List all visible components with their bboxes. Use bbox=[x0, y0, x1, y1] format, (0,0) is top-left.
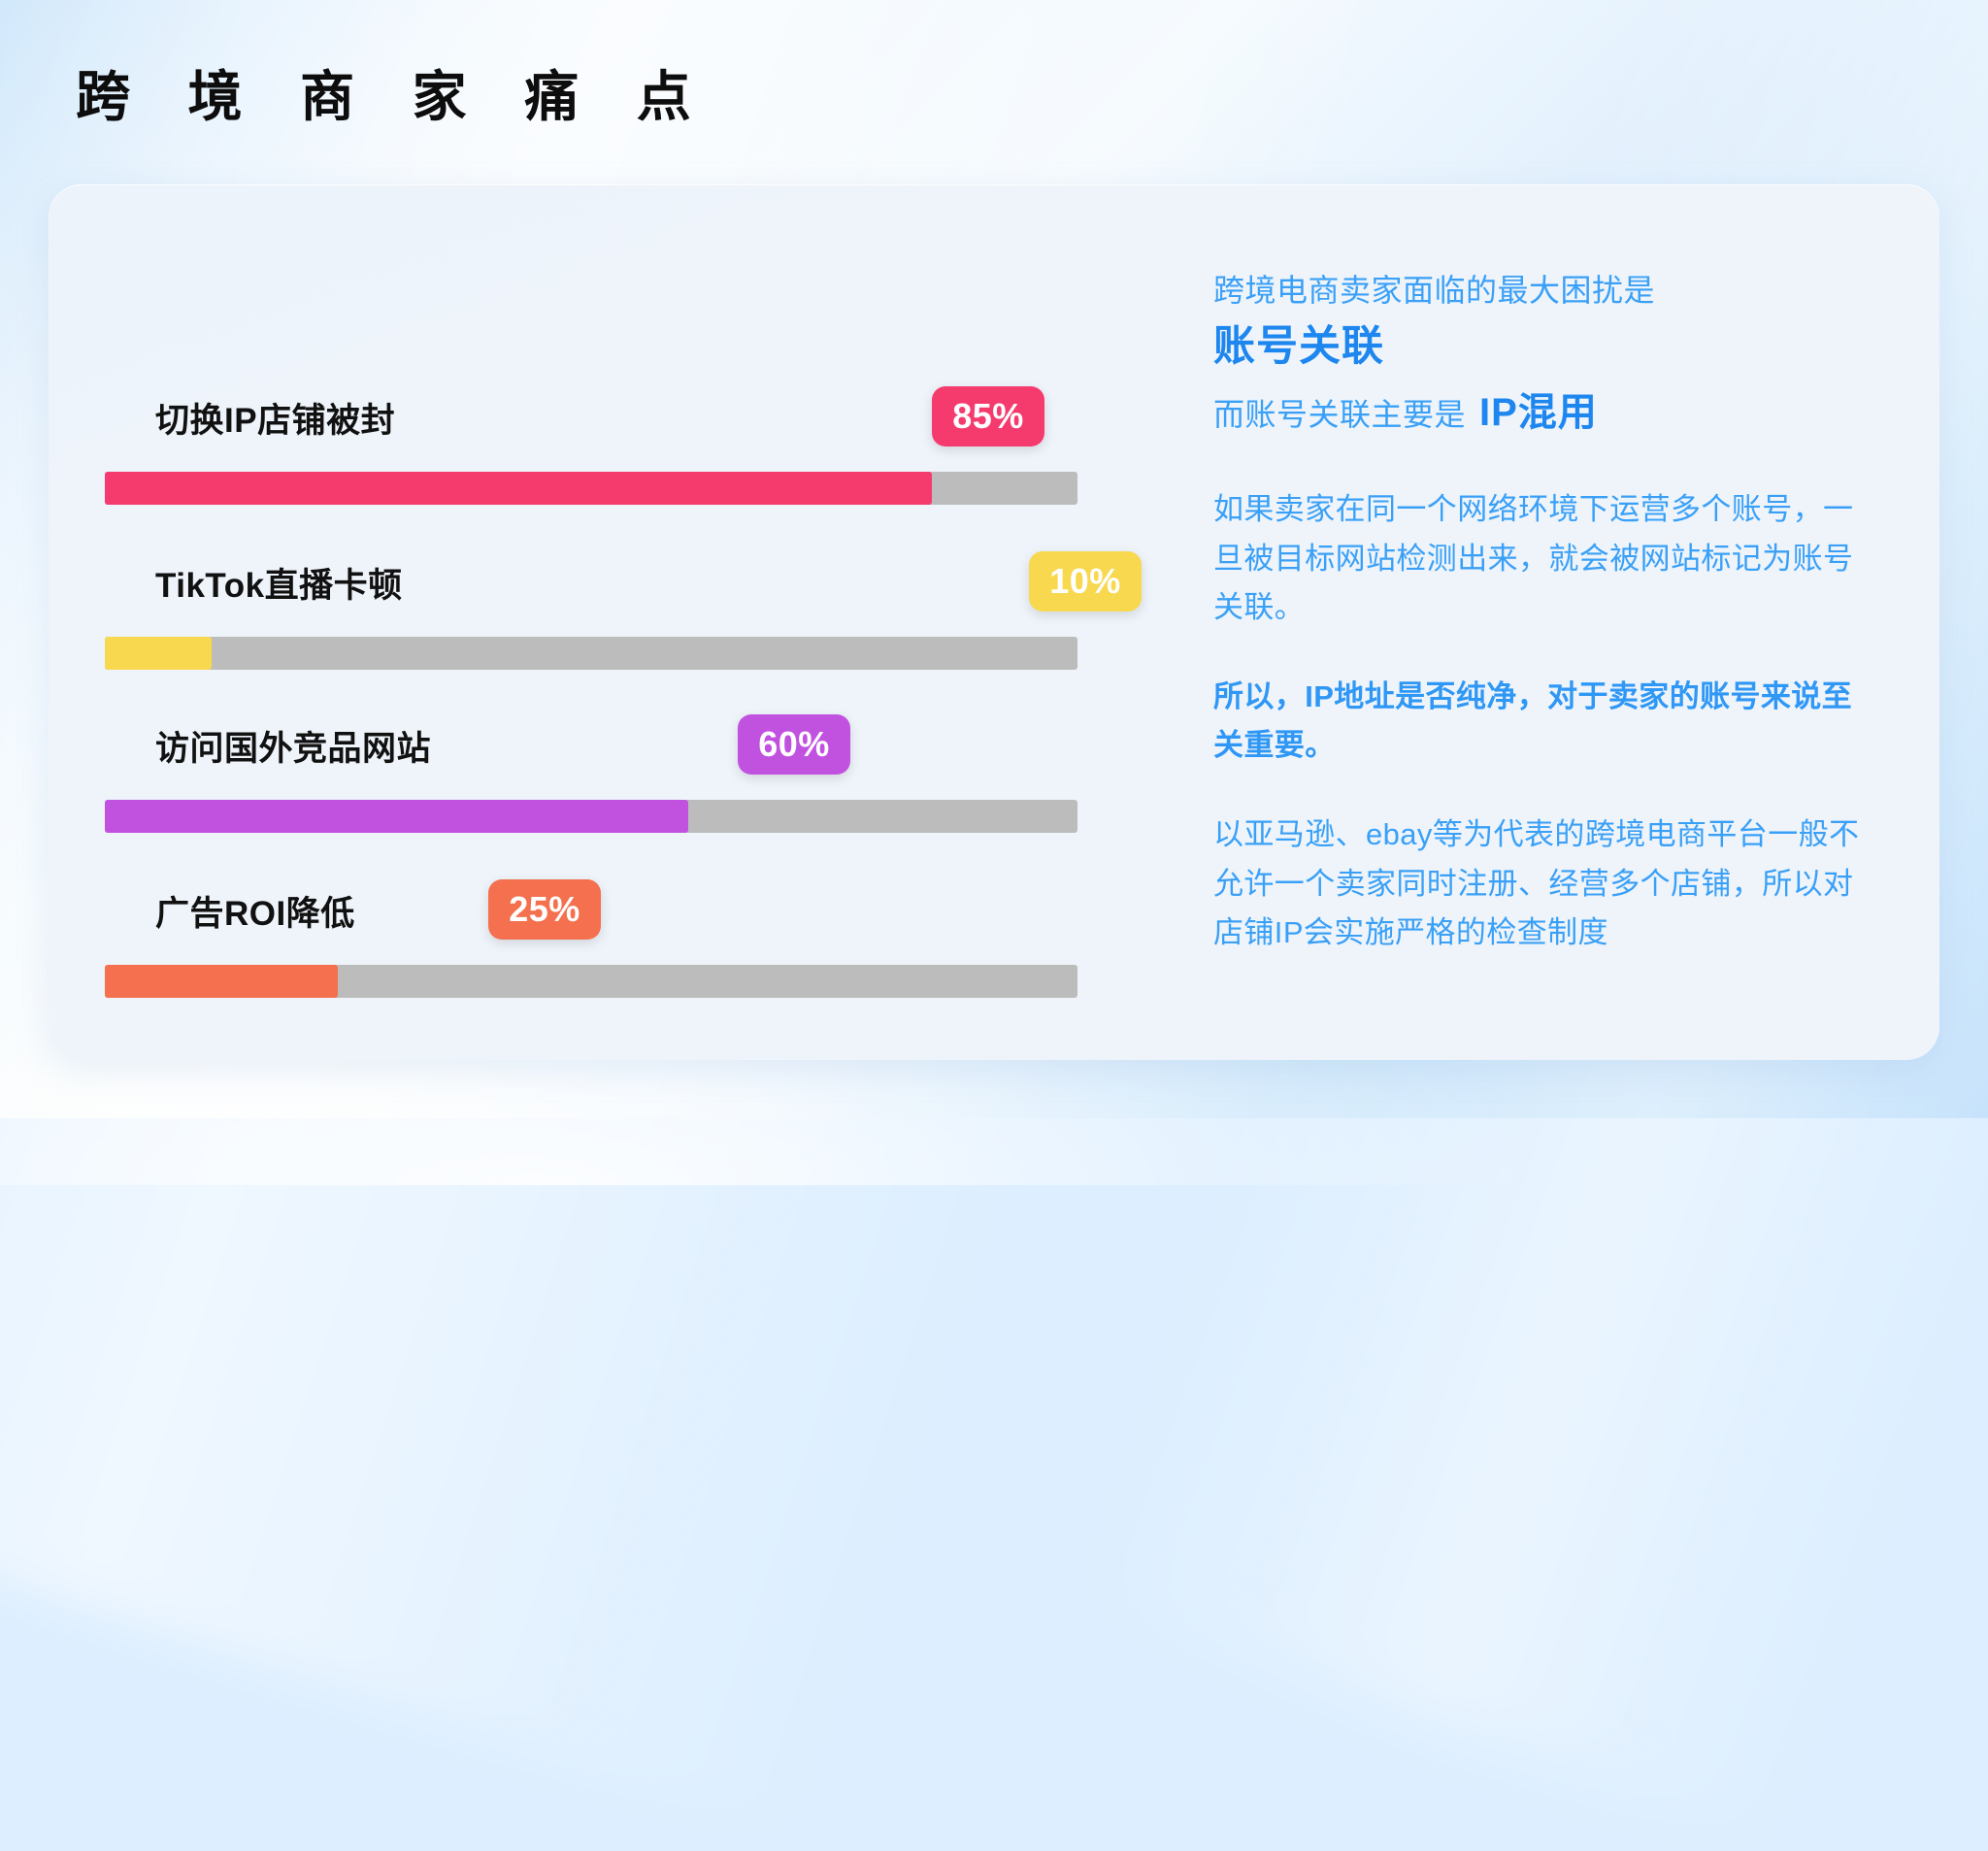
paragraph-platforms: 以亚马逊、ebay等为代表的跨境电商平台一般不允许一个卖家同时注册、经营多个店铺… bbox=[1213, 810, 1875, 957]
bar-label: 切换IP店铺被封 bbox=[155, 393, 395, 443]
content-card: 切换IP店铺被封 85% TikTok直播卡顿 10% 访问国外竞品网站 60%… bbox=[49, 184, 1939, 1060]
bar-row: 访问国外竞品网站 60% bbox=[105, 678, 1126, 833]
explanation-panel: 跨境电商卖家面临的最大困扰是 账号关联 而账号关联主要是IP混用 如果卖家在同一… bbox=[1165, 184, 1939, 1060]
keyword-heading: 账号关联 bbox=[1213, 320, 1875, 375]
bar-row: TikTok直播卡顿 10% bbox=[105, 514, 1126, 670]
bar-track bbox=[105, 965, 1077, 998]
pain-point-bar-chart: 切换IP店铺被封 85% TikTok直播卡顿 10% 访问国外竞品网站 60%… bbox=[49, 184, 1165, 1060]
paragraph-purity: 所以，IP地址是否纯净，对于卖家的账号来说至关重要。 bbox=[1213, 673, 1875, 770]
bar-row: 广告ROI降低 25% bbox=[105, 843, 1126, 998]
bar-fill bbox=[105, 800, 688, 833]
bar-track bbox=[105, 637, 1077, 670]
page-title: 跨 境 商 家 痛 点 bbox=[76, 70, 712, 124]
bar-track bbox=[105, 800, 1077, 833]
subline-emphasis: IP混用 bbox=[1479, 391, 1598, 434]
bar-label: TikTok直播卡顿 bbox=[155, 558, 403, 608]
bar-value-badge: 10% bbox=[1029, 551, 1142, 611]
bar-fill bbox=[105, 965, 338, 998]
bar-label: 广告ROI降低 bbox=[155, 886, 355, 936]
bar-value-badge: 25% bbox=[488, 879, 601, 940]
bar-value-badge: 60% bbox=[738, 714, 850, 775]
bar-fill bbox=[105, 637, 212, 670]
bar-fill bbox=[105, 472, 932, 505]
bar-label: 访问国外竞品网站 bbox=[155, 721, 431, 771]
subline-prefix: 而账号关联主要是 bbox=[1213, 397, 1466, 432]
subline: 而账号关联主要是IP混用 bbox=[1213, 384, 1875, 441]
intro-line: 跨境电商卖家面临的最大困扰是 bbox=[1213, 268, 1875, 313]
bar-row: 切换IP店铺被封 85% bbox=[105, 349, 1126, 505]
bar-value-badge: 85% bbox=[932, 386, 1044, 446]
bar-track bbox=[105, 472, 1077, 505]
paragraph-detection: 如果卖家在同一个网络环境下运营多个账号，一旦被目标网站检测出来，就会被网站标记为… bbox=[1213, 485, 1875, 632]
